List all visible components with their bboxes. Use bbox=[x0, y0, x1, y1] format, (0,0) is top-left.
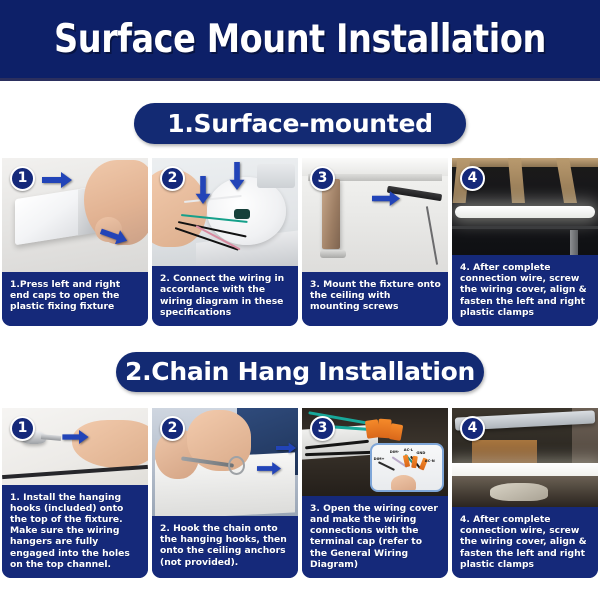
arrow-left-icon bbox=[257, 462, 281, 475]
step-card[interactable]: 4 4. After complete connection wire, scr… bbox=[452, 158, 598, 326]
section-2-steps-row: 1 1. Install the hanging hooks (included… bbox=[0, 408, 600, 578]
arrow-left-icon bbox=[276, 442, 296, 454]
infographic-page: Surface Mount Installation 1.Surface-mou… bbox=[0, 0, 600, 600]
wire-label: AC-N bbox=[425, 459, 435, 463]
wire-label: AC-L bbox=[404, 448, 413, 452]
step-card[interactable]: 1 1. Install the hanging hooks (included… bbox=[2, 408, 148, 578]
header-underline bbox=[0, 78, 600, 81]
step-card[interactable]: 4 4. After complete connection wire, scr… bbox=[452, 408, 598, 578]
step-number-badge: 2 bbox=[160, 416, 185, 441]
section-2-label: 2.Chain Hang Installation bbox=[125, 359, 475, 385]
step-photo: 1 bbox=[2, 408, 148, 485]
wire-label: GND bbox=[416, 451, 425, 455]
step-photo: DIM+ DIM- AC-L GND AC-N 3 bbox=[302, 408, 448, 496]
section-2-pill: 2.Chain Hang Installation bbox=[116, 352, 484, 392]
section-1-header: 1.Surface-mounted bbox=[0, 103, 600, 144]
step-number-badge: 1 bbox=[10, 416, 35, 441]
step-photo: 2 bbox=[152, 158, 298, 266]
arrow-down-icon bbox=[229, 162, 245, 190]
step-photo: 2 bbox=[152, 408, 298, 516]
step-photo: 3 bbox=[302, 158, 448, 272]
step-caption: 3. Mount the fixture onto the ceiling wi… bbox=[302, 272, 448, 326]
step-number-badge: 3 bbox=[310, 416, 335, 441]
step-caption: 3. Open the wiring cover and make the wi… bbox=[302, 496, 448, 578]
step-number-badge: 1 bbox=[10, 166, 35, 191]
section-1-steps-row: 1 1.Press left and right end caps to ope… bbox=[0, 158, 600, 326]
step-caption: 2. Hook the chain onto the hanging hooks… bbox=[152, 516, 298, 578]
section-1-label: 1.Surface-mounted bbox=[167, 111, 432, 137]
step-card[interactable]: DIM+ DIM- AC-L GND AC-N 3 3. Open the wi… bbox=[302, 408, 448, 578]
step-number-badge: 3 bbox=[310, 166, 335, 191]
step-card[interactable]: 2 2. Connect the wiring in accordance wi… bbox=[152, 158, 298, 326]
arrow-left-icon bbox=[42, 172, 72, 188]
section-2-header: 2.Chain Hang Installation bbox=[0, 352, 600, 392]
step-caption: 4. After complete connection wire, screw… bbox=[452, 255, 598, 326]
step-photo: 4 bbox=[452, 408, 598, 507]
wiring-diagram-inset: DIM+ DIM- AC-L GND AC-N bbox=[370, 443, 444, 493]
section-1-pill: 1.Surface-mounted bbox=[134, 103, 466, 144]
wire-label: DIM+ bbox=[374, 457, 385, 461]
arrow-left-icon bbox=[62, 430, 89, 444]
step-caption: 4. After complete connection wire, screw… bbox=[452, 507, 598, 578]
step-photo: 4 bbox=[452, 158, 598, 255]
step-caption: 1. Install the hanging hooks (included) … bbox=[2, 485, 148, 578]
arrow-left-icon bbox=[372, 191, 400, 206]
header-banner: Surface Mount Installation bbox=[0, 0, 600, 78]
step-card[interactable]: 3 3. Mount the fixture onto the ceiling … bbox=[302, 158, 448, 326]
arrow-down-right-icon bbox=[100, 228, 128, 244]
step-number-badge: 4 bbox=[460, 416, 485, 441]
step-photo: 1 bbox=[2, 158, 148, 272]
step-card[interactable]: 2 2. Hook the chain onto the hanging hoo… bbox=[152, 408, 298, 578]
page-title: Surface Mount Installation bbox=[54, 19, 546, 60]
step-card[interactable]: 1 1.Press left and right end caps to ope… bbox=[2, 158, 148, 326]
arrow-down-icon bbox=[195, 176, 211, 204]
wire-label: DIM- bbox=[390, 450, 399, 454]
step-number-badge: 2 bbox=[160, 166, 185, 191]
step-number-badge: 4 bbox=[460, 166, 485, 191]
step-caption: 2. Connect the wiring in accordance with… bbox=[152, 266, 298, 326]
step-caption: 1.Press left and right end caps to open … bbox=[2, 272, 148, 326]
